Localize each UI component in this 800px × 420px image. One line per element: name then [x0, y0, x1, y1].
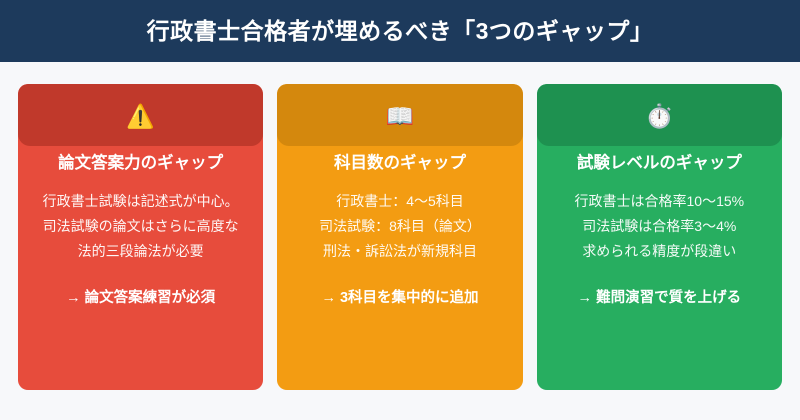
open-book-icon: 📖: [386, 105, 415, 128]
card-body-line: 行政書士試験は記述式が中心。: [28, 189, 253, 214]
card-body: 行政書士試験は記述式が中心。 司法試験の論文はさらに高度な 法的三段論法が必要: [18, 189, 263, 264]
card-body: 行政書士：4〜5科目 司法試験：8科目（論文） 刑法・訴訟法が新規科目: [277, 189, 522, 264]
page-title: 行政書士合格者が埋めるべき「3つのギャップ」: [147, 20, 654, 43]
warning-triangle-icon: ⚠️: [126, 105, 155, 128]
card-exam-level-gap[interactable]: ⏱️ 試験レベルのギャップ 行政書士は合格率10〜15% 司法試験は合格率3〜4…: [537, 84, 782, 390]
card-title: 試験レベルのギャップ: [577, 155, 742, 172]
card-body-line: 司法試験の論文はさらに高度な: [28, 214, 253, 239]
card-title: 科目数のギャップ: [334, 155, 466, 172]
card-body: 行政書士は合格率10〜15% 司法試験は合格率3〜4% 求められる精度が段違い: [537, 189, 782, 264]
card-footer-action: → 論文答案練習が必須: [18, 291, 263, 306]
card-body-line: 求められる精度が段違い: [547, 239, 772, 264]
card-body-line: 司法試験：8科目（論文）: [287, 214, 512, 239]
card-footer-action: → 難問演習で質を上げる: [537, 291, 782, 306]
card-footer-action: → 3科目を集中的に追加: [277, 291, 522, 306]
card-subject-count-gap[interactable]: 📖 科目数のギャップ 行政書士：4〜5科目 司法試験：8科目（論文） 刑法・訴訟…: [277, 84, 522, 390]
infographic-root: 行政書士合格者が埋めるべき「3つのギャップ」 ⚠️ 論文答案力のギャップ 行政書…: [0, 0, 800, 420]
cards-row: ⚠️ 論文答案力のギャップ 行政書士試験は記述式が中心。 司法試験の論文はさらに…: [0, 62, 800, 420]
card-essay-skill-gap[interactable]: ⚠️ 論文答案力のギャップ 行政書士試験は記述式が中心。 司法試験の論文はさらに…: [18, 84, 263, 390]
card-body-line: 行政書士：4〜5科目: [287, 189, 512, 214]
card-body-line: 行政書士は合格率10〜15%: [547, 189, 772, 214]
card-body-line: 法的三段論法が必要: [28, 239, 253, 264]
card-header-band: ⚠️: [18, 84, 263, 146]
stopwatch-icon: ⏱️: [645, 105, 674, 128]
card-header-band: ⏱️: [537, 84, 782, 146]
card-title: 論文答案力のギャップ: [58, 155, 223, 172]
card-body-line: 刑法・訴訟法が新規科目: [287, 239, 512, 264]
header-bar: 行政書士合格者が埋めるべき「3つのギャップ」: [0, 0, 800, 62]
card-header-band: 📖: [277, 84, 522, 146]
card-body-line: 司法試験は合格率3〜4%: [547, 214, 772, 239]
